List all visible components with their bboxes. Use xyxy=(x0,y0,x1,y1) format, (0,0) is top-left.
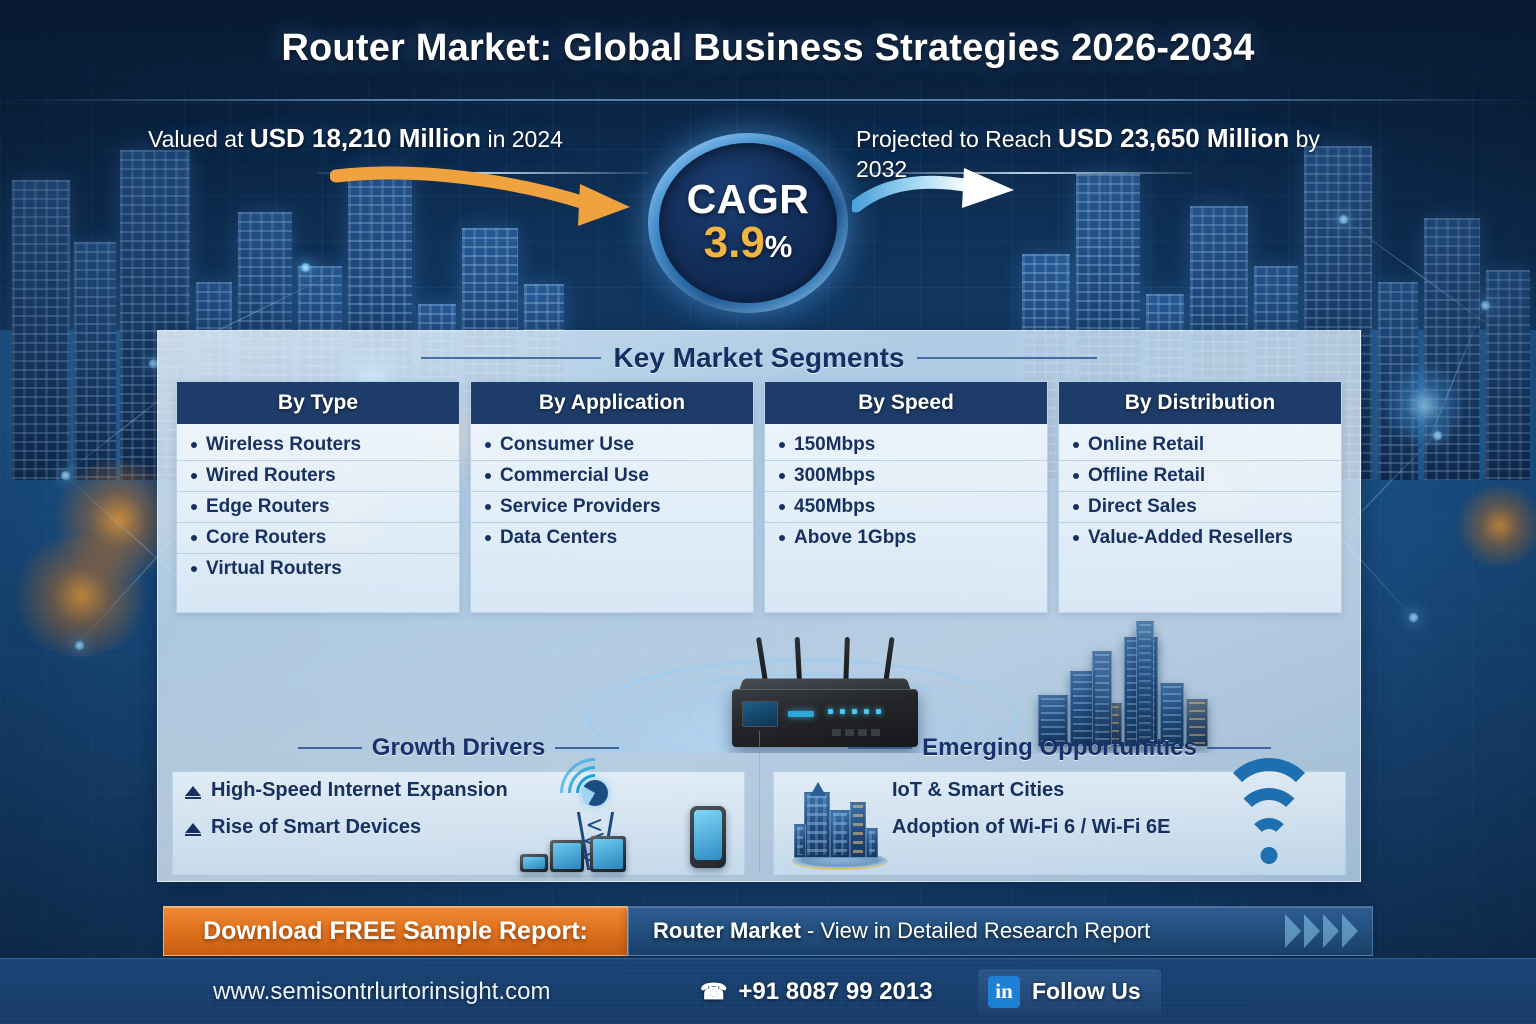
growth-drivers-rule-left xyxy=(298,747,362,749)
bullet-dot-icon xyxy=(191,535,197,541)
list-item[interactable]: Edge Routers xyxy=(177,492,459,523)
segment-column-by-application: By Application Consumer Use Commercial U… xyxy=(470,381,754,613)
emerging-opportunity-label: Adoption of Wi-Fi 6 / Wi-Fi 6E xyxy=(892,816,1171,839)
segment-header-by-distribution: By Distribution xyxy=(1059,382,1341,424)
bullet-dot-icon xyxy=(779,535,785,541)
emerging-rule-right xyxy=(1207,747,1271,749)
list-item[interactable]: 300Mbps xyxy=(765,461,1047,492)
segment-list-by-application: Consumer Use Commercial Use Service Prov… xyxy=(471,424,753,557)
wifi-signal-icon xyxy=(1217,782,1321,866)
stat-right-value: USD 23,650 Million xyxy=(1058,123,1289,153)
linkedin-icon: in xyxy=(988,976,1020,1008)
segment-item-label: Service Providers xyxy=(500,496,661,518)
bottom-duo-panels: Growth Drivers High-Speed Internet Expan… xyxy=(158,723,1360,881)
view-detailed-report-button[interactable]: Router Market - View in Detailed Researc… xyxy=(628,906,1373,956)
smart-device-icon xyxy=(590,836,626,872)
cagr-badge: CAGR 3.9% xyxy=(648,133,848,313)
segment-list-by-type: Wireless Routers Wired Routers Edge Rout… xyxy=(177,424,459,588)
bullet-dot-icon xyxy=(485,535,491,541)
bullet-dot-icon xyxy=(779,504,785,510)
infographic-root: Router Market: Global Business Strategie… xyxy=(0,0,1536,1024)
bullet-dot-icon xyxy=(1073,442,1079,448)
bullet-dot-icon xyxy=(485,504,491,510)
cagr-label: CAGR xyxy=(687,179,810,220)
segment-item-label: Direct Sales xyxy=(1088,496,1197,518)
segments-grid: By Type Wireless Routers Wired Routers E… xyxy=(176,381,1342,613)
panel-title-rule-left xyxy=(421,357,601,359)
phone-contact[interactable]: ☎ +91 8087 99 2013 xyxy=(700,978,933,1006)
smart-device-icon xyxy=(550,840,584,872)
list-item[interactable]: Rise of Smart Devices xyxy=(173,809,744,846)
footer-bar: www.semisontrlurtorinsight.com ☎ +91 808… xyxy=(0,958,1536,1024)
emerging-opportunities-title: Emerging Opportunities xyxy=(922,734,1197,762)
up-triangle-icon xyxy=(185,786,201,796)
list-item[interactable]: Direct Sales xyxy=(1059,492,1341,523)
emerging-opportunities-section: Emerging Opportunities IoT & Smart Citie… xyxy=(759,723,1360,881)
segment-item-label: Data Centers xyxy=(500,527,617,549)
list-item[interactable]: Online Retail xyxy=(1059,430,1341,461)
key-market-segments-panel: Key Market Segments By Type Wireless Rou… xyxy=(157,330,1361,882)
segment-item-label: Above 1Gbps xyxy=(794,527,916,549)
chevron-right-icon xyxy=(1285,914,1301,948)
panel-title-rule-right xyxy=(917,357,1097,359)
segment-column-by-type: By Type Wireless Routers Wired Routers E… xyxy=(176,381,460,613)
phone-number: +91 8087 99 2013 xyxy=(738,978,932,1006)
stat-left-suffix: in 2024 xyxy=(481,126,563,152)
segment-header-by-type: By Type xyxy=(177,382,459,424)
cagr-value-wrap: 3.9% xyxy=(704,220,793,266)
chevron-right-icon xyxy=(1304,914,1320,948)
report-name: Router Market xyxy=(653,918,801,943)
stat-value-2024: Valued at USD 18,210 Million in 2024 xyxy=(148,122,648,155)
panel-title: Key Market Segments xyxy=(613,342,904,374)
bullet-dot-icon xyxy=(485,473,491,479)
page-title: Router Market: Global Business Strategie… xyxy=(0,27,1536,70)
list-item[interactable]: Offline Retail xyxy=(1059,461,1341,492)
up-triangle-icon xyxy=(185,823,201,833)
bullet-dot-icon xyxy=(191,566,197,572)
download-sample-report-button[interactable]: Download FREE Sample Report: xyxy=(163,906,628,956)
tablet-device-icon xyxy=(690,806,726,868)
growth-driver-label: Rise of Smart Devices xyxy=(211,816,421,839)
list-item[interactable]: 150Mbps xyxy=(765,430,1047,461)
cagr-unit: % xyxy=(765,229,793,264)
segment-item-label: Edge Routers xyxy=(206,496,330,518)
website-url[interactable]: www.semisontrlurtorinsight.com xyxy=(213,978,550,1006)
growth-driver-label: High-Speed Internet Expansion xyxy=(211,779,508,802)
stat-left-value: USD 18,210 Million xyxy=(250,123,481,153)
stat-left-prefix: Valued at xyxy=(148,126,250,152)
segment-item-label: 150Mbps xyxy=(794,434,875,456)
list-item[interactable]: Value-Added Resellers xyxy=(1059,523,1341,553)
segment-list-by-distribution: Online Retail Offline Retail Direct Sale… xyxy=(1059,424,1341,557)
segment-item-label: Offline Retail xyxy=(1088,465,1205,487)
chevron-arrows xyxy=(1285,907,1358,955)
list-item[interactable]: Commercial Use xyxy=(471,461,753,492)
cagr-inner: CAGR 3.9% xyxy=(659,143,837,303)
segment-item-label: Virtual Routers xyxy=(206,558,342,580)
segment-header-by-speed: By Speed xyxy=(765,382,1047,424)
phone-icon: ☎ xyxy=(700,979,727,1005)
segment-item-label: Online Retail xyxy=(1088,434,1204,456)
bullet-dot-icon xyxy=(191,504,197,510)
cta-row: Download FREE Sample Report: Router Mark… xyxy=(163,906,1373,956)
emerging-opportunities-body: IoT & Smart Cities Adoption of Wi-Fi 6 /… xyxy=(773,771,1346,875)
segment-column-by-distribution: By Distribution Online Retail Offline Re… xyxy=(1058,381,1342,613)
cagr-value: 3.9 xyxy=(704,218,765,267)
segment-header-by-application: By Application xyxy=(471,382,753,424)
list-item[interactable]: 450Mbps xyxy=(765,492,1047,523)
growth-drivers-section: Growth Drivers High-Speed Internet Expan… xyxy=(158,723,759,881)
chevron-right-icon xyxy=(1342,914,1358,948)
bullet-dot-icon xyxy=(191,442,197,448)
segment-item-label: Core Routers xyxy=(206,527,326,549)
growth-drivers-body: High-Speed Internet Expansion Rise of Sm… xyxy=(172,771,745,875)
growth-drivers-title-row: Growth Drivers xyxy=(172,729,745,767)
segment-list-by-speed: 150Mbps 300Mbps 450Mbps Above 1Gbps xyxy=(765,424,1047,557)
segment-item-label: Consumer Use xyxy=(500,434,634,456)
emerging-opportunity-label: IoT & Smart Cities xyxy=(892,779,1064,802)
emerging-rule-left xyxy=(848,747,912,749)
panel-title-row: Key Market Segments xyxy=(158,337,1360,379)
list-item[interactable]: Above 1Gbps xyxy=(765,523,1047,553)
segment-item-label: Wireless Routers xyxy=(206,434,361,456)
list-item[interactable]: Wired Routers xyxy=(177,461,459,492)
segment-item-label: Value-Added Resellers xyxy=(1088,527,1293,549)
list-item[interactable]: Data Centers xyxy=(471,523,753,553)
bullet-dot-icon xyxy=(1073,535,1079,541)
curved-arrow-right-orange-icon xyxy=(330,160,650,230)
list-item[interactable]: High-Speed Internet Expansion xyxy=(173,772,744,809)
list-item[interactable]: Consumer Use xyxy=(471,430,753,461)
title-divider xyxy=(0,99,1536,101)
bullet-dot-icon xyxy=(779,473,785,479)
segment-item-label: 450Mbps xyxy=(794,496,875,518)
follow-us-label: Follow Us xyxy=(1032,978,1141,1005)
bullet-dot-icon xyxy=(779,442,785,448)
curved-arrow-right-blue-icon xyxy=(852,160,1032,230)
bullet-dot-icon xyxy=(1073,504,1079,510)
smart-device-icon xyxy=(520,854,548,872)
list-item[interactable]: Wireless Routers xyxy=(177,430,459,461)
stat-right-prefix: Projected to Reach xyxy=(856,126,1058,152)
growth-drivers-title: Growth Drivers xyxy=(372,734,545,762)
report-action: - View in Detailed Research Report xyxy=(801,918,1150,943)
list-item[interactable]: Virtual Routers xyxy=(177,554,459,584)
growth-drivers-rule-right xyxy=(555,747,619,749)
segment-item-label: Commercial Use xyxy=(500,465,649,487)
segment-item-label: Wired Routers xyxy=(206,465,336,487)
page-title-bold: Router Market: xyxy=(281,27,552,69)
bullet-dot-icon xyxy=(1073,473,1079,479)
view-detailed-report-label: Router Market - View in Detailed Researc… xyxy=(653,918,1150,944)
bullet-dot-icon xyxy=(191,473,197,479)
page-title-rest: Global Business Strategies 2026-2034 xyxy=(552,27,1254,69)
segment-column-by-speed: By Speed 150Mbps 300Mbps 450Mbps Above 1… xyxy=(764,381,1048,613)
list-item[interactable]: Service Providers xyxy=(471,492,753,523)
linkedin-follow-button[interactable]: in Follow Us xyxy=(978,969,1161,1015)
smart-city-buildings-icon xyxy=(792,776,888,872)
segment-item-label: 300Mbps xyxy=(794,465,875,487)
chevron-right-icon xyxy=(1323,914,1339,948)
list-item[interactable]: Core Routers xyxy=(177,523,459,554)
bullet-dot-icon xyxy=(485,442,491,448)
